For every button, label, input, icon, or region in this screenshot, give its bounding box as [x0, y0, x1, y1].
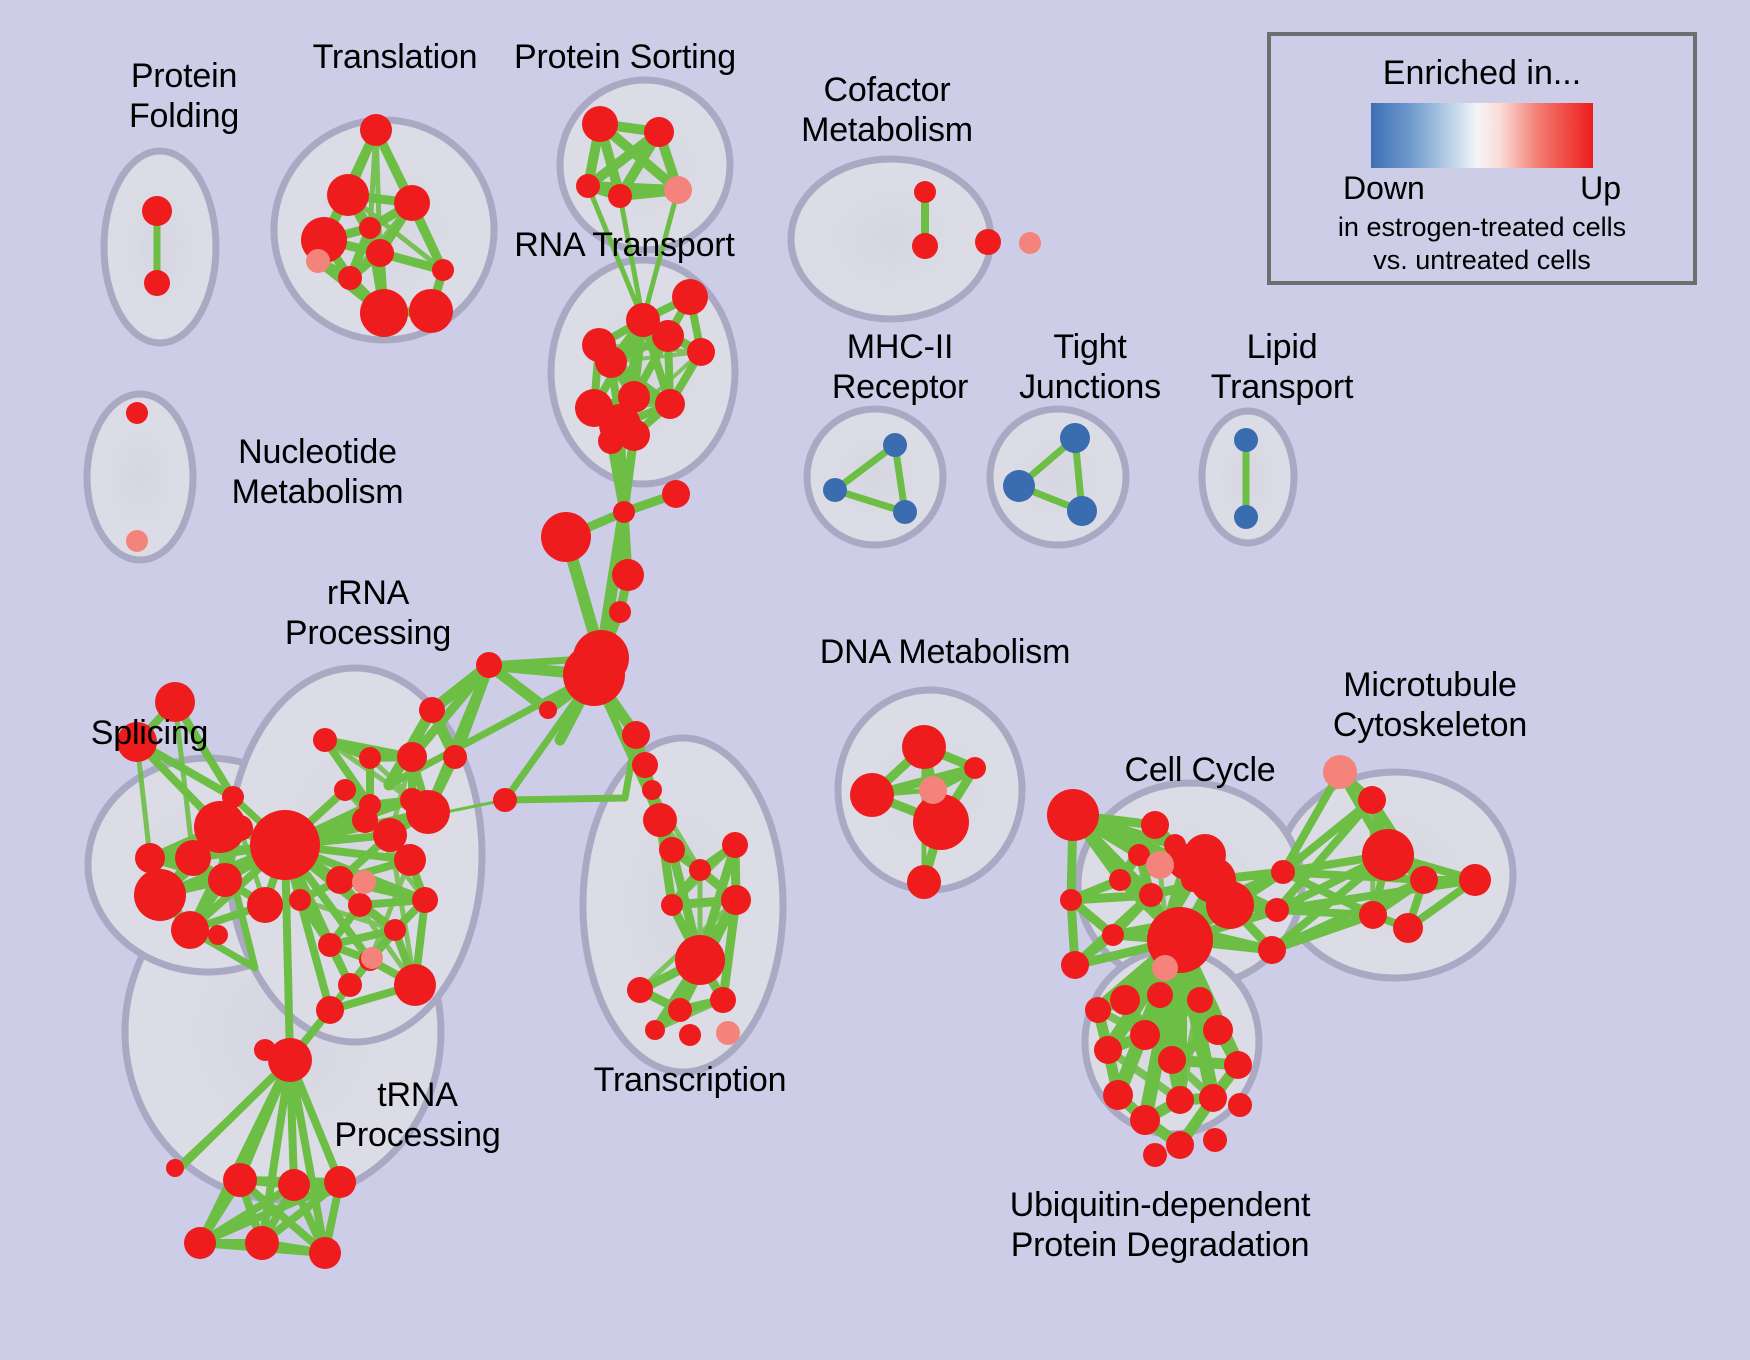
legend-high-label: Up	[1580, 170, 1621, 207]
network-figure: Protein Folding Translation Protein Sort…	[0, 0, 1750, 1360]
hull-mhc-ii	[807, 409, 943, 545]
label-protein-folding: Protein Folding	[84, 56, 284, 136]
legend-caption-line-2: vs. untreated cells	[1271, 244, 1693, 277]
label-splicing: Splicing	[62, 713, 237, 753]
label-rna-transport: RNA Transport	[497, 225, 752, 265]
legend-low-label: Down	[1343, 170, 1425, 207]
legend-caption-line-1: in estrogen-treated cells	[1271, 211, 1693, 244]
label-dna-metabolism: DNA Metabolism	[815, 632, 1075, 672]
label-ubiquitin-protein-degradation: Ubiquitin-dependent Protein Degradation	[995, 1185, 1325, 1265]
label-mhc-ii-receptor: MHC-II Receptor	[800, 327, 1000, 407]
label-cofactor-metabolism: Cofactor Metabolism	[782, 70, 992, 150]
label-cell-cycle: Cell Cycle	[1100, 750, 1300, 790]
label-tight-junctions: Tight Junctions	[990, 327, 1190, 407]
hull-cofactor-metabolism	[791, 159, 991, 319]
legend-title: Enriched in...	[1271, 54, 1693, 93]
label-rrna-processing: rRNA Processing	[258, 573, 478, 653]
legend-caption: in estrogen-treated cells vs. untreated …	[1271, 211, 1693, 277]
label-protein-sorting: Protein Sorting	[500, 37, 750, 77]
label-trna-processing: tRNA Processing	[310, 1075, 525, 1155]
label-translation: Translation	[280, 37, 510, 77]
color-scale-bar	[1371, 103, 1593, 168]
legend-panel: Enriched in... Down Up in estrogen-treat…	[1267, 32, 1697, 285]
label-transcription: Transcription	[570, 1060, 810, 1100]
legend-endpoints: Down Up	[1343, 170, 1621, 207]
label-microtubule-cytoskeleton: Microtubule Cytoskeleton	[1305, 665, 1555, 745]
label-nucleotide-metabolism: Nucleotide Metabolism	[200, 432, 435, 512]
label-lipid-transport: Lipid Transport	[1182, 327, 1382, 407]
